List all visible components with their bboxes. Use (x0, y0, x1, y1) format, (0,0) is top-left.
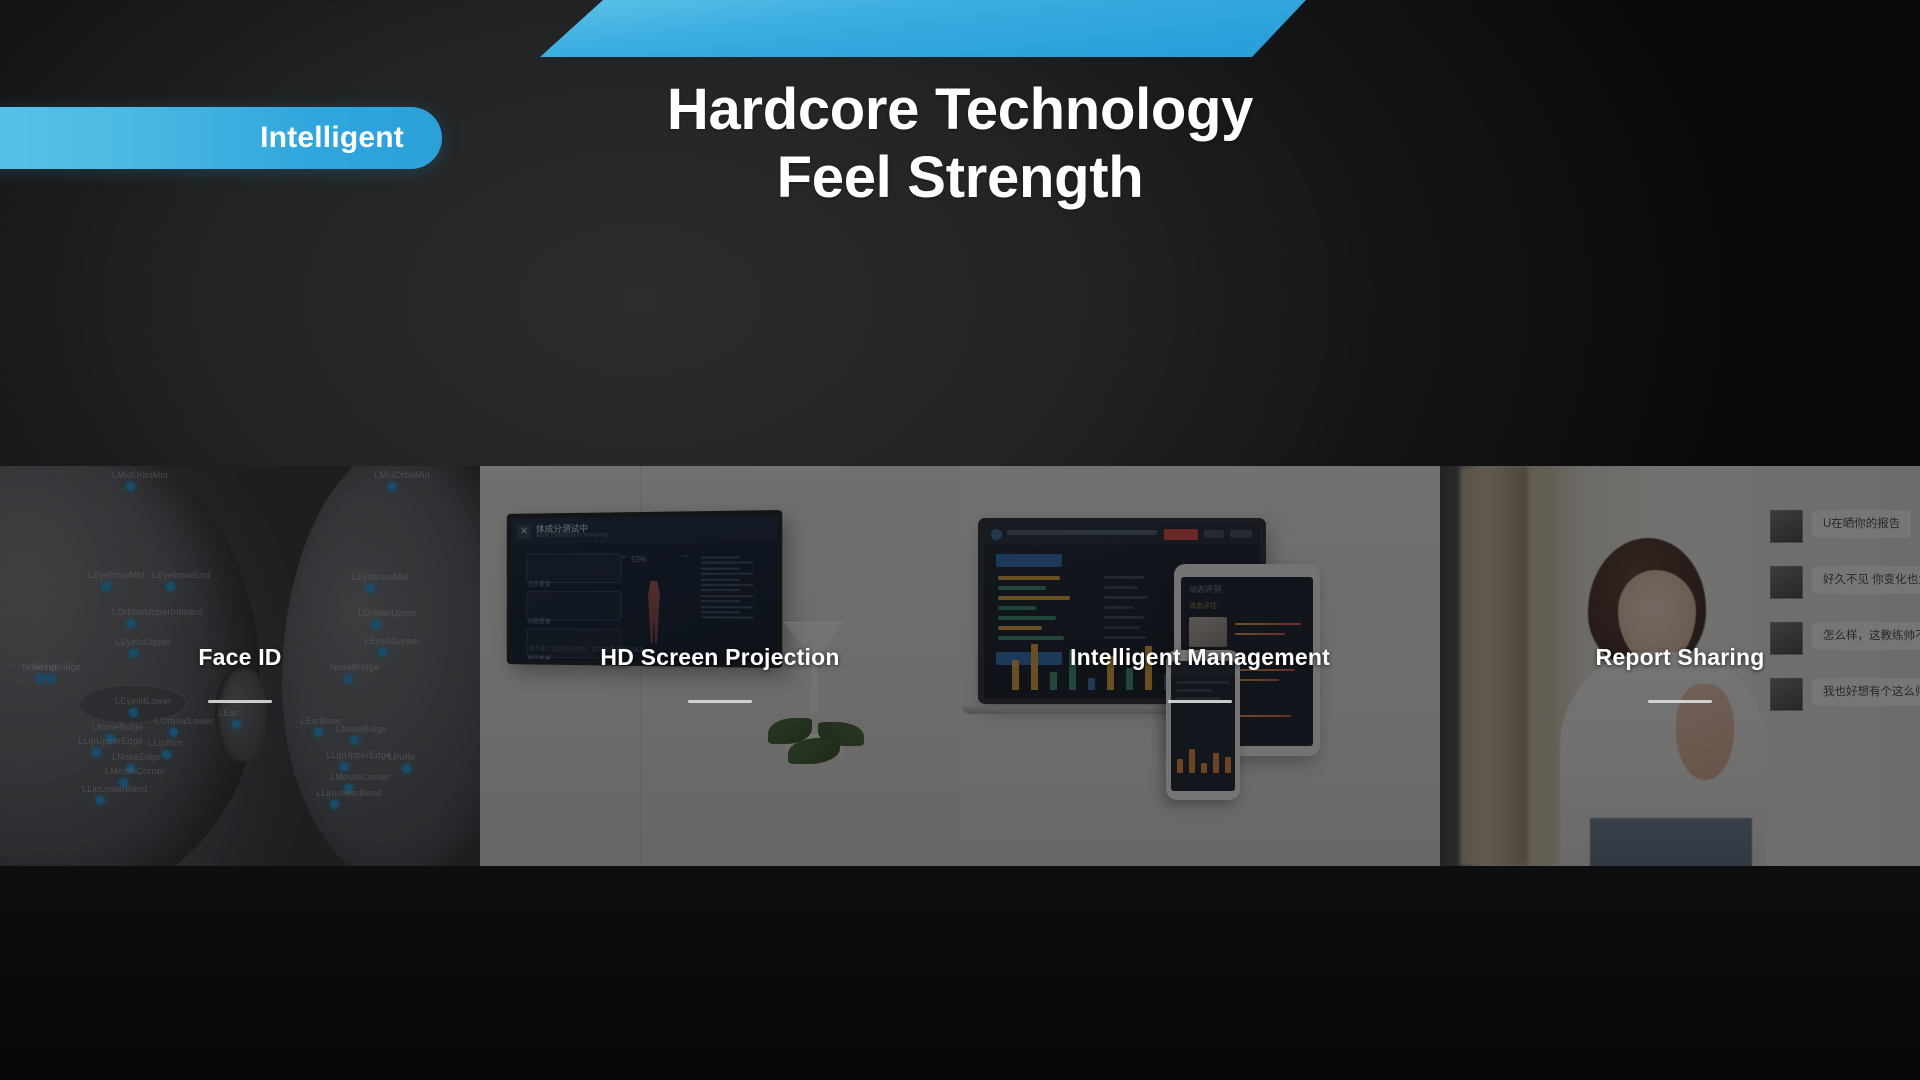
page-title-line1: Hardcore Technology (667, 77, 1253, 142)
feature-tile-report-sharing[interactable]: U在晒你的报告好久不见 你变化也太大了吧！怎么样，这教练帅不帅？我也好想有个这么… (1440, 466, 1920, 866)
caption-underline (208, 700, 272, 703)
feature-tile-face-id[interactable]: LEyebrowMidLEyebrowEndLOrbitalUpperInboa… (0, 466, 480, 866)
bottom-fade (0, 866, 1920, 1080)
top-chevron-decoration (0, 0, 1920, 60)
feature-tile-caption: Intelligent Management (960, 644, 1440, 671)
hero-banner: Intelligent Hardcore Technology Feel Str… (0, 0, 1920, 1080)
feature-tile-caption: Face ID (0, 644, 480, 671)
feature-tile-caption: HD Screen Projection (480, 644, 960, 671)
page-title-line2: Feel Strength (0, 144, 1920, 212)
feature-tile-intelligent-management[interactable]: 动态评测 体态评估 (960, 466, 1440, 866)
page-title: Hardcore Technology Feel Strength (0, 76, 1920, 213)
feature-tiles: LEyebrowMidLEyebrowEndLOrbitalUpperInboa… (0, 466, 1920, 866)
caption-underline (688, 700, 752, 703)
caption-underline (1648, 700, 1712, 703)
feature-tile-hd-screen-projection[interactable]: ✕ 体成分测试中 Body composition analysing 左手重量… (480, 466, 960, 866)
feature-tile-caption: Report Sharing (1440, 644, 1920, 671)
caption-underline (1168, 700, 1232, 703)
